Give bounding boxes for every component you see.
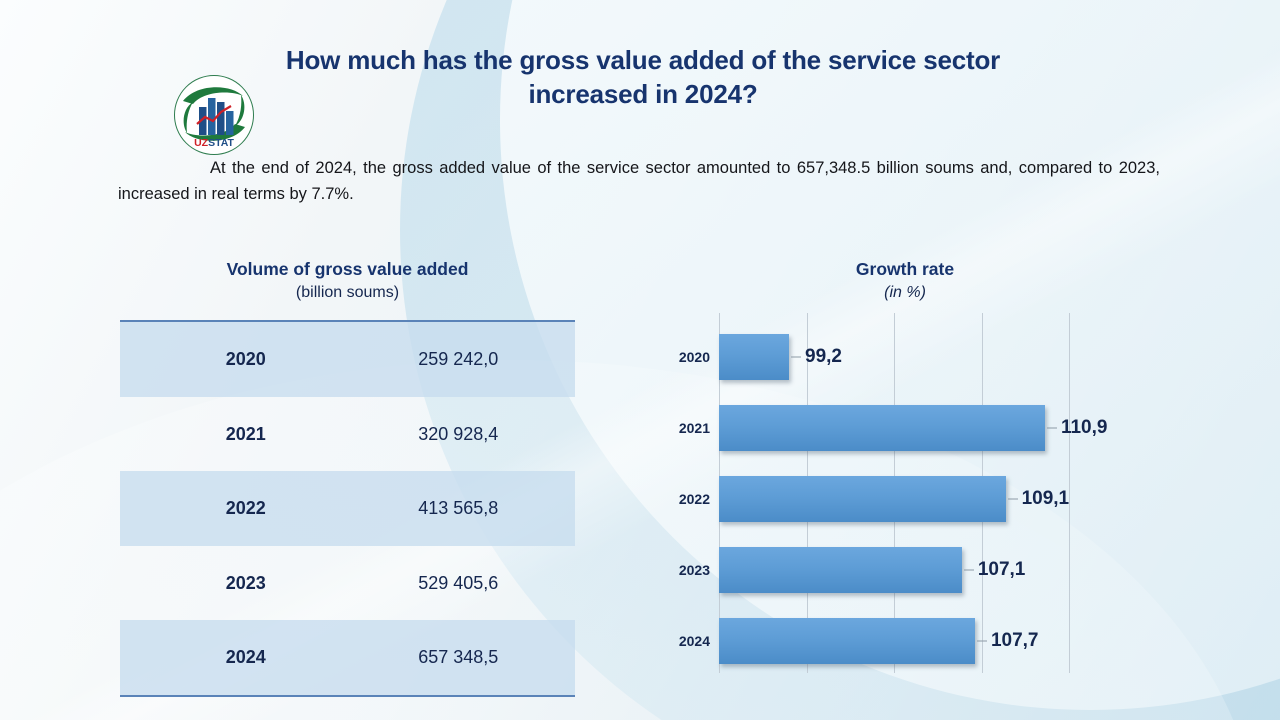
bar-row: 2023107,1 [650,534,1170,605]
bar-value-label: 99,2 [805,346,842,368]
growth-chart-title: Growth rate [650,258,1160,281]
table-cell-year: 2021 [120,424,348,445]
bar-leader-line [977,640,987,641]
table-cell-value: 529 405,6 [348,573,576,594]
bar-row: 202099,2 [650,321,1170,392]
bar-category-label: 2020 [650,349,710,365]
table-cell-year: 2020 [120,349,348,370]
table-cell-year: 2022 [120,498,348,519]
volume-table-title: Volume of gross value added [120,258,575,281]
bar [719,476,1006,522]
table-cell-year: 2024 [120,647,348,668]
volume-table-subtitle: (billion soums) [120,282,575,304]
table-row: 2022 413 565,8 [120,471,575,546]
table-cell-value: 657 348,5 [348,647,576,668]
bar-leader-line [964,569,974,570]
volume-table: 2020 259 242,0 2021 320 928,4 2022 413 5… [120,320,575,697]
bar-leader-line [1047,427,1057,428]
bar-category-label: 2021 [650,420,710,436]
summary-paragraph: At the end of 2024, the gross added valu… [118,156,1160,207]
bar-category-label: 2023 [650,562,710,578]
bar [719,334,789,380]
bar-leader-line [791,356,801,357]
page-title: How much has the gross value added of th… [278,44,1008,112]
bar-chart: 202099,22021110,92022109,12023107,120241… [650,313,1170,720]
table-row: 2024 657 348,5 [120,620,575,695]
bar-value-label: 107,7 [991,630,1039,652]
bar-row: 2021110,9 [650,392,1170,463]
page-header: UZSTAT How much has the gross value adde… [0,36,1280,136]
bar-leader-line [1008,498,1018,499]
bar-row: 2024107,7 [650,605,1170,676]
bar-category-label: 2022 [650,491,710,507]
table-cell-value: 259 242,0 [348,349,576,370]
bar-value-label: 107,1 [978,559,1026,581]
svg-text:UZSTAT: UZSTAT [194,137,234,149]
table-row: 2023 529 405,6 [120,546,575,621]
logo-text-stat: STAT [208,137,234,149]
bar [719,405,1045,451]
growth-rate-chart-panel: Growth rate (in %) 202099,22021110,92022… [650,258,1170,303]
table-row: 2021 320 928,4 [120,397,575,472]
bar [719,618,975,664]
uzstat-logo-icon: UZSTAT [173,74,255,156]
volume-table-panel: Volume of gross value added (billion sou… [120,258,575,697]
table-cell-year: 2023 [120,573,348,594]
uzstat-logo: UZSTAT [173,74,255,156]
bar [719,547,962,593]
bar-category-label: 2024 [650,633,710,649]
growth-chart-subtitle: (in %) [650,282,1160,304]
bar-value-label: 109,1 [1022,488,1070,510]
table-cell-value: 413 565,8 [348,498,576,519]
bar-value-label: 110,9 [1061,417,1108,439]
table-cell-value: 320 928,4 [348,424,576,445]
bar-row: 2022109,1 [650,463,1170,534]
table-row: 2020 259 242,0 [120,322,575,397]
logo-text-uz: UZ [194,137,209,149]
